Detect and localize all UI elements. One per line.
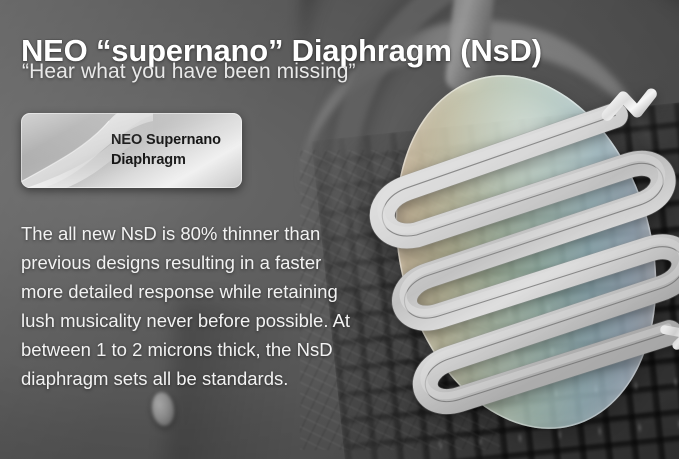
body-line: lush musicality never before possible. A…: [21, 306, 366, 335]
badge-line-2: Diaphragm: [111, 150, 221, 170]
body-line: previous designs resulting in a faster: [21, 248, 366, 277]
badge-text-block: NEO Supernano Diaphragm: [111, 130, 221, 170]
body-line: more detailed response while retaining: [21, 277, 366, 306]
body-line: between 1 to 2 microns thick, the NsD: [21, 335, 366, 364]
body-line: diaphragm sets all be standards.: [21, 364, 366, 393]
page-subtitle: “Hear what you have been missing”: [22, 60, 356, 84]
neo-supernano-badge: NEO Supernano Diaphragm: [21, 113, 242, 188]
body-line: The all new NsD is 80% thinner than: [21, 219, 366, 248]
body-paragraph: The all new NsD is 80% thinner than prev…: [21, 219, 366, 393]
content-layer: NEO “supernano” Diaphragm (NsD) “Hear wh…: [0, 0, 679, 459]
badge-line-1: NEO Supernano: [111, 130, 221, 150]
product-banner: NEO “supernano” Diaphragm (NsD) “Hear wh…: [0, 0, 679, 459]
